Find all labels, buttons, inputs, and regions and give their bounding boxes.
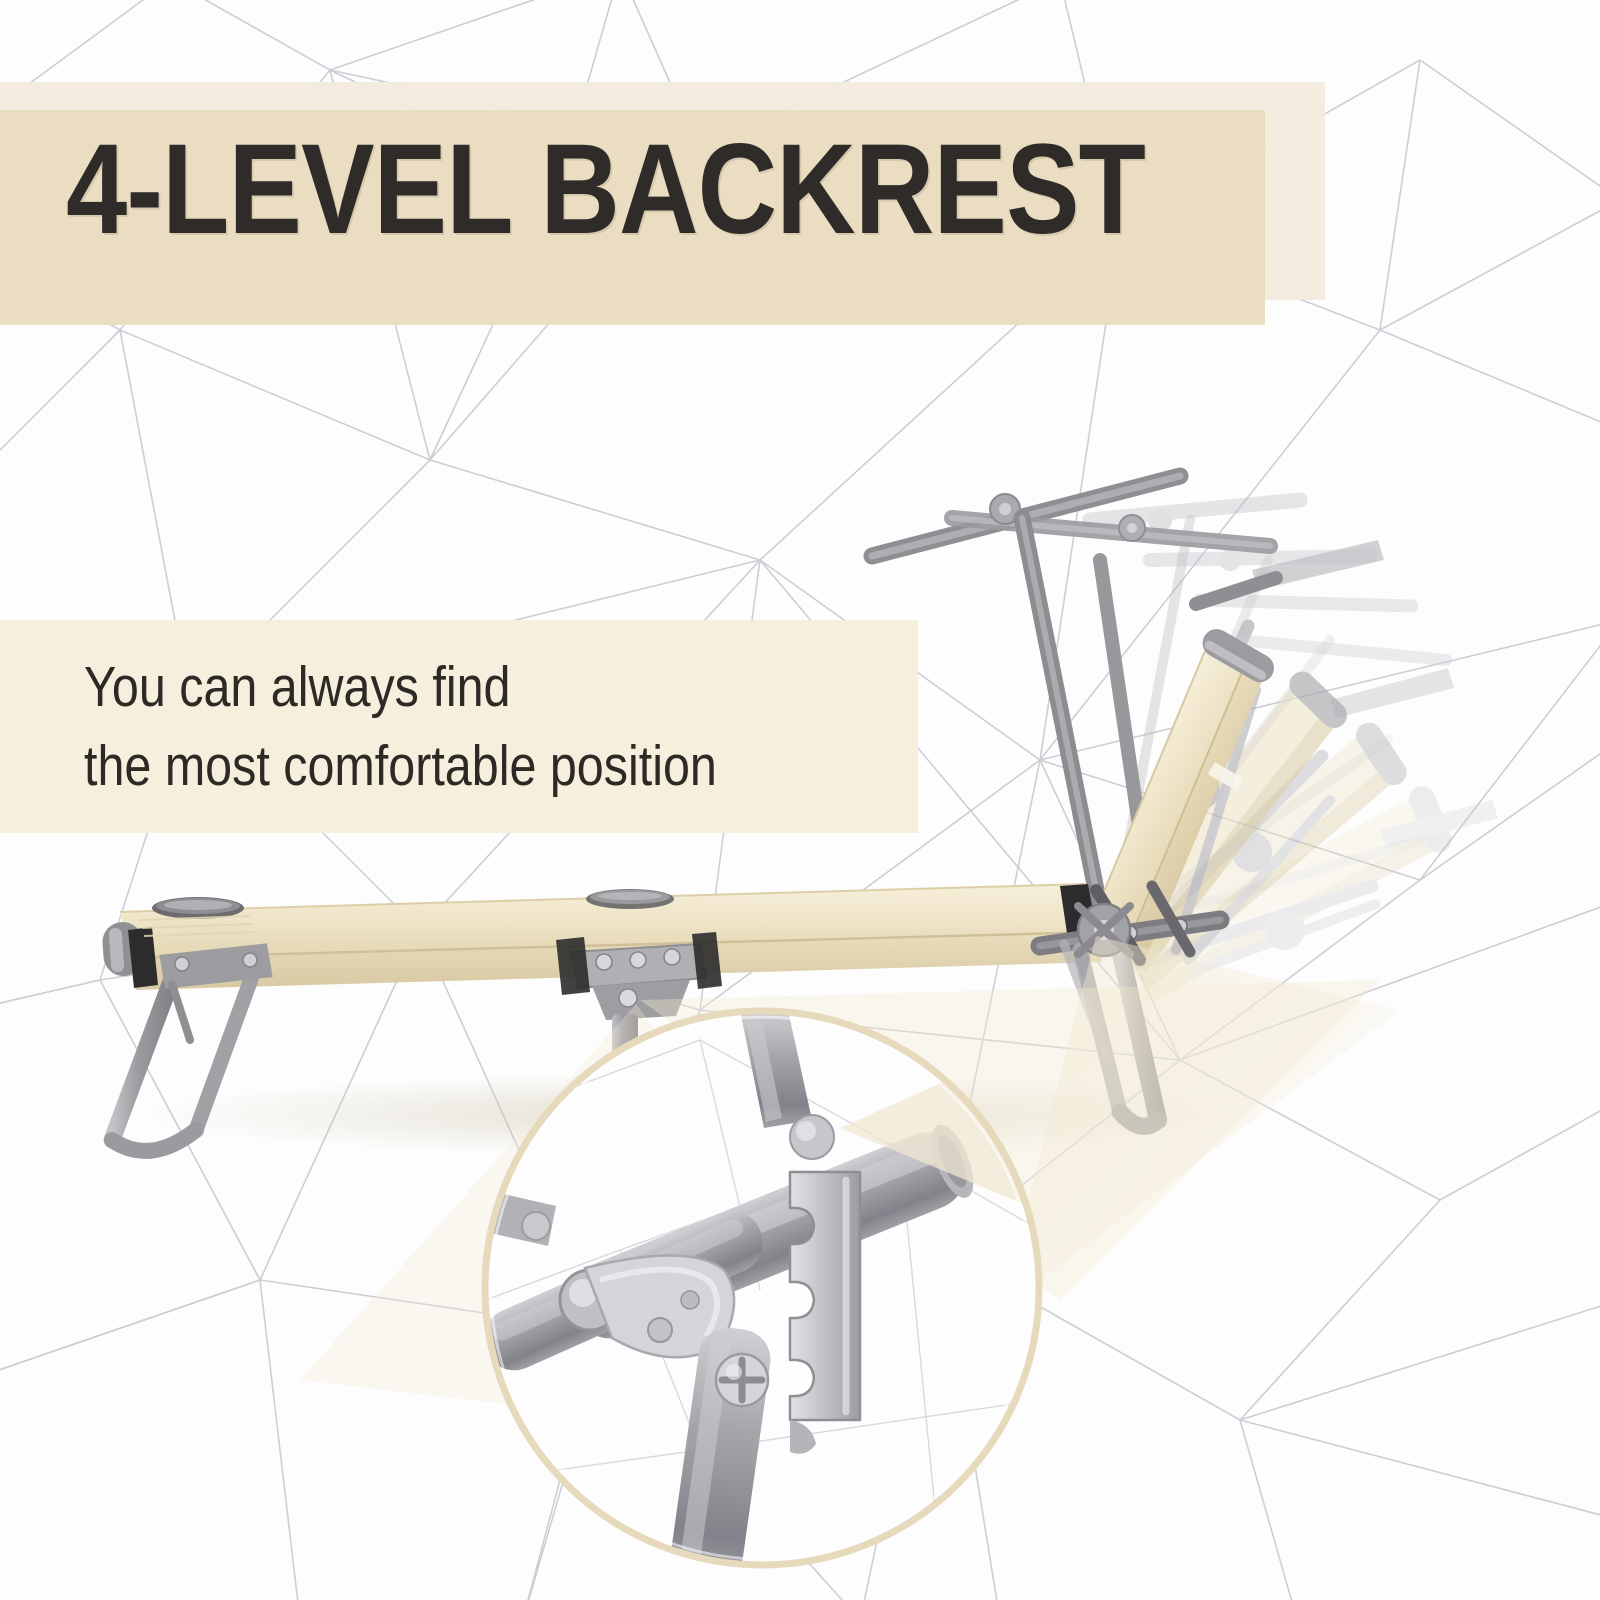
page-subtitle: You can always find the most comfortable… [84, 648, 717, 805]
page-title: 4-LEVEL BACKREST [66, 126, 1145, 254]
promo-graphic: 4-LEVEL BACKREST You can always find the… [0, 0, 1600, 1600]
